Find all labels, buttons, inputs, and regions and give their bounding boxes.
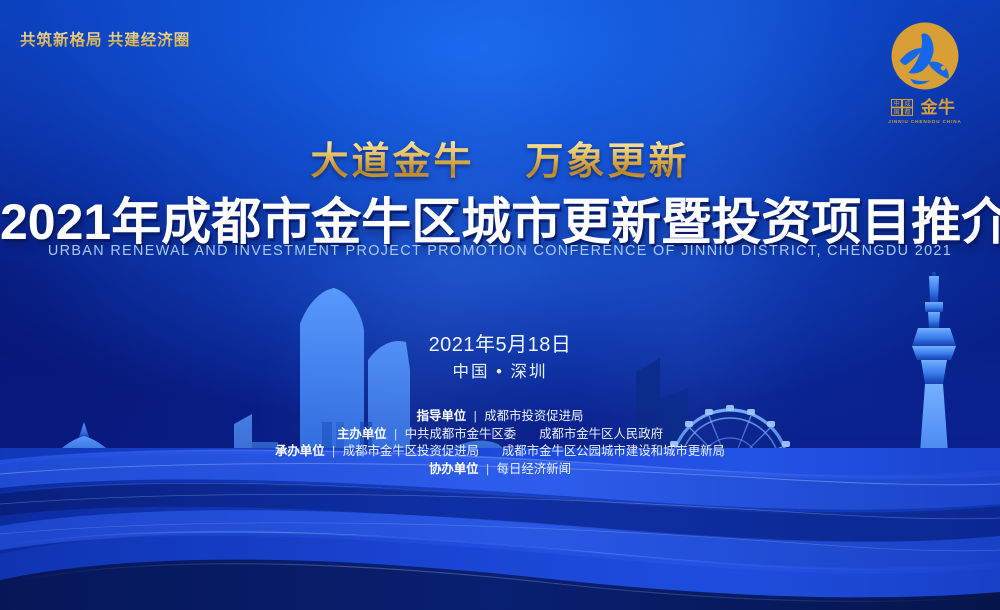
event-date: 2021年5月18日 [0,328,1000,357]
organizer-entry: 成都市金牛区投资促进局 [343,444,479,458]
logo-wordmark-jinniu: 金牛 [916,97,960,117]
svg-text:国: 国 [893,108,899,115]
organizer-label: 指导单位 [417,409,467,423]
organizer-entry: 成都市金牛区人民政府 [539,427,663,441]
jinniu-logo: 中 国 成 都 金牛 JINNIU CHENGDU CHINA [872,18,978,124]
svg-text:中: 中 [893,99,899,107]
svg-text:成: 成 [904,99,910,107]
page-subtitle: URBAN RENEWAL AND INVESTMENT PROJECT PRO… [0,243,1000,259]
organizer-label: 主办单位 [337,427,387,441]
organizer-row: 指导单位 | 成都市投资促进局 [0,408,1000,426]
header-tagline: 共筑新格局 共建经济圈 [20,28,190,50]
organizer-entry: 成都市投资促进局 [484,409,583,423]
slogan-part-1: 大道金牛 [310,141,474,183]
organizer-entry: 每日经济新闻 [497,462,571,476]
svg-text:金牛: 金牛 [919,97,955,117]
organizer-block: 指导单位 | 成都市投资促进局 主办单位 | 中共成都市金牛区委 成都市金牛区人… [0,408,1000,478]
organizer-separator: | [470,409,481,423]
organizer-label: 协办单位 [429,462,479,476]
organizer-entry: 成都市金牛区公园城市建设和城市更新局 [502,444,725,458]
organizer-row: 协办单位 | 每日经济新闻 [0,461,1000,479]
organizer-entry: 中共成都市金牛区委 [405,427,517,441]
gold-slogan: 大道金牛 万象更新 [0,130,1000,185]
logo-wordmark: 中 国 成 都 金牛 [872,97,978,117]
organizer-row: 主办单位 | 中共成都市金牛区委 成都市金牛区人民政府 [0,426,1000,444]
organizer-separator: | [328,444,339,458]
organizer-row: 承办单位 | 成都市金牛区投资促进局 成都市金牛区公园城市建设和城市更新局 [0,443,1000,461]
organizer-label: 承办单位 [275,444,325,458]
golden-ox-emblem-icon [887,18,963,94]
poster-canvas: 共筑新格局 共建经济圈 中 国 成 都 金牛 [0,0,1000,610]
organizer-separator: | [390,427,401,441]
logo-wordmark-boxes: 中 国 成 都 [891,99,913,116]
organizer-separator: | [482,462,493,476]
logo-latin-text: JINNIU CHENGDU CHINA [872,119,978,124]
svg-text:都: 都 [904,107,910,115]
event-location: 中国 • 深圳 [0,358,1000,382]
slogan-part-2: 万象更新 [526,141,690,183]
